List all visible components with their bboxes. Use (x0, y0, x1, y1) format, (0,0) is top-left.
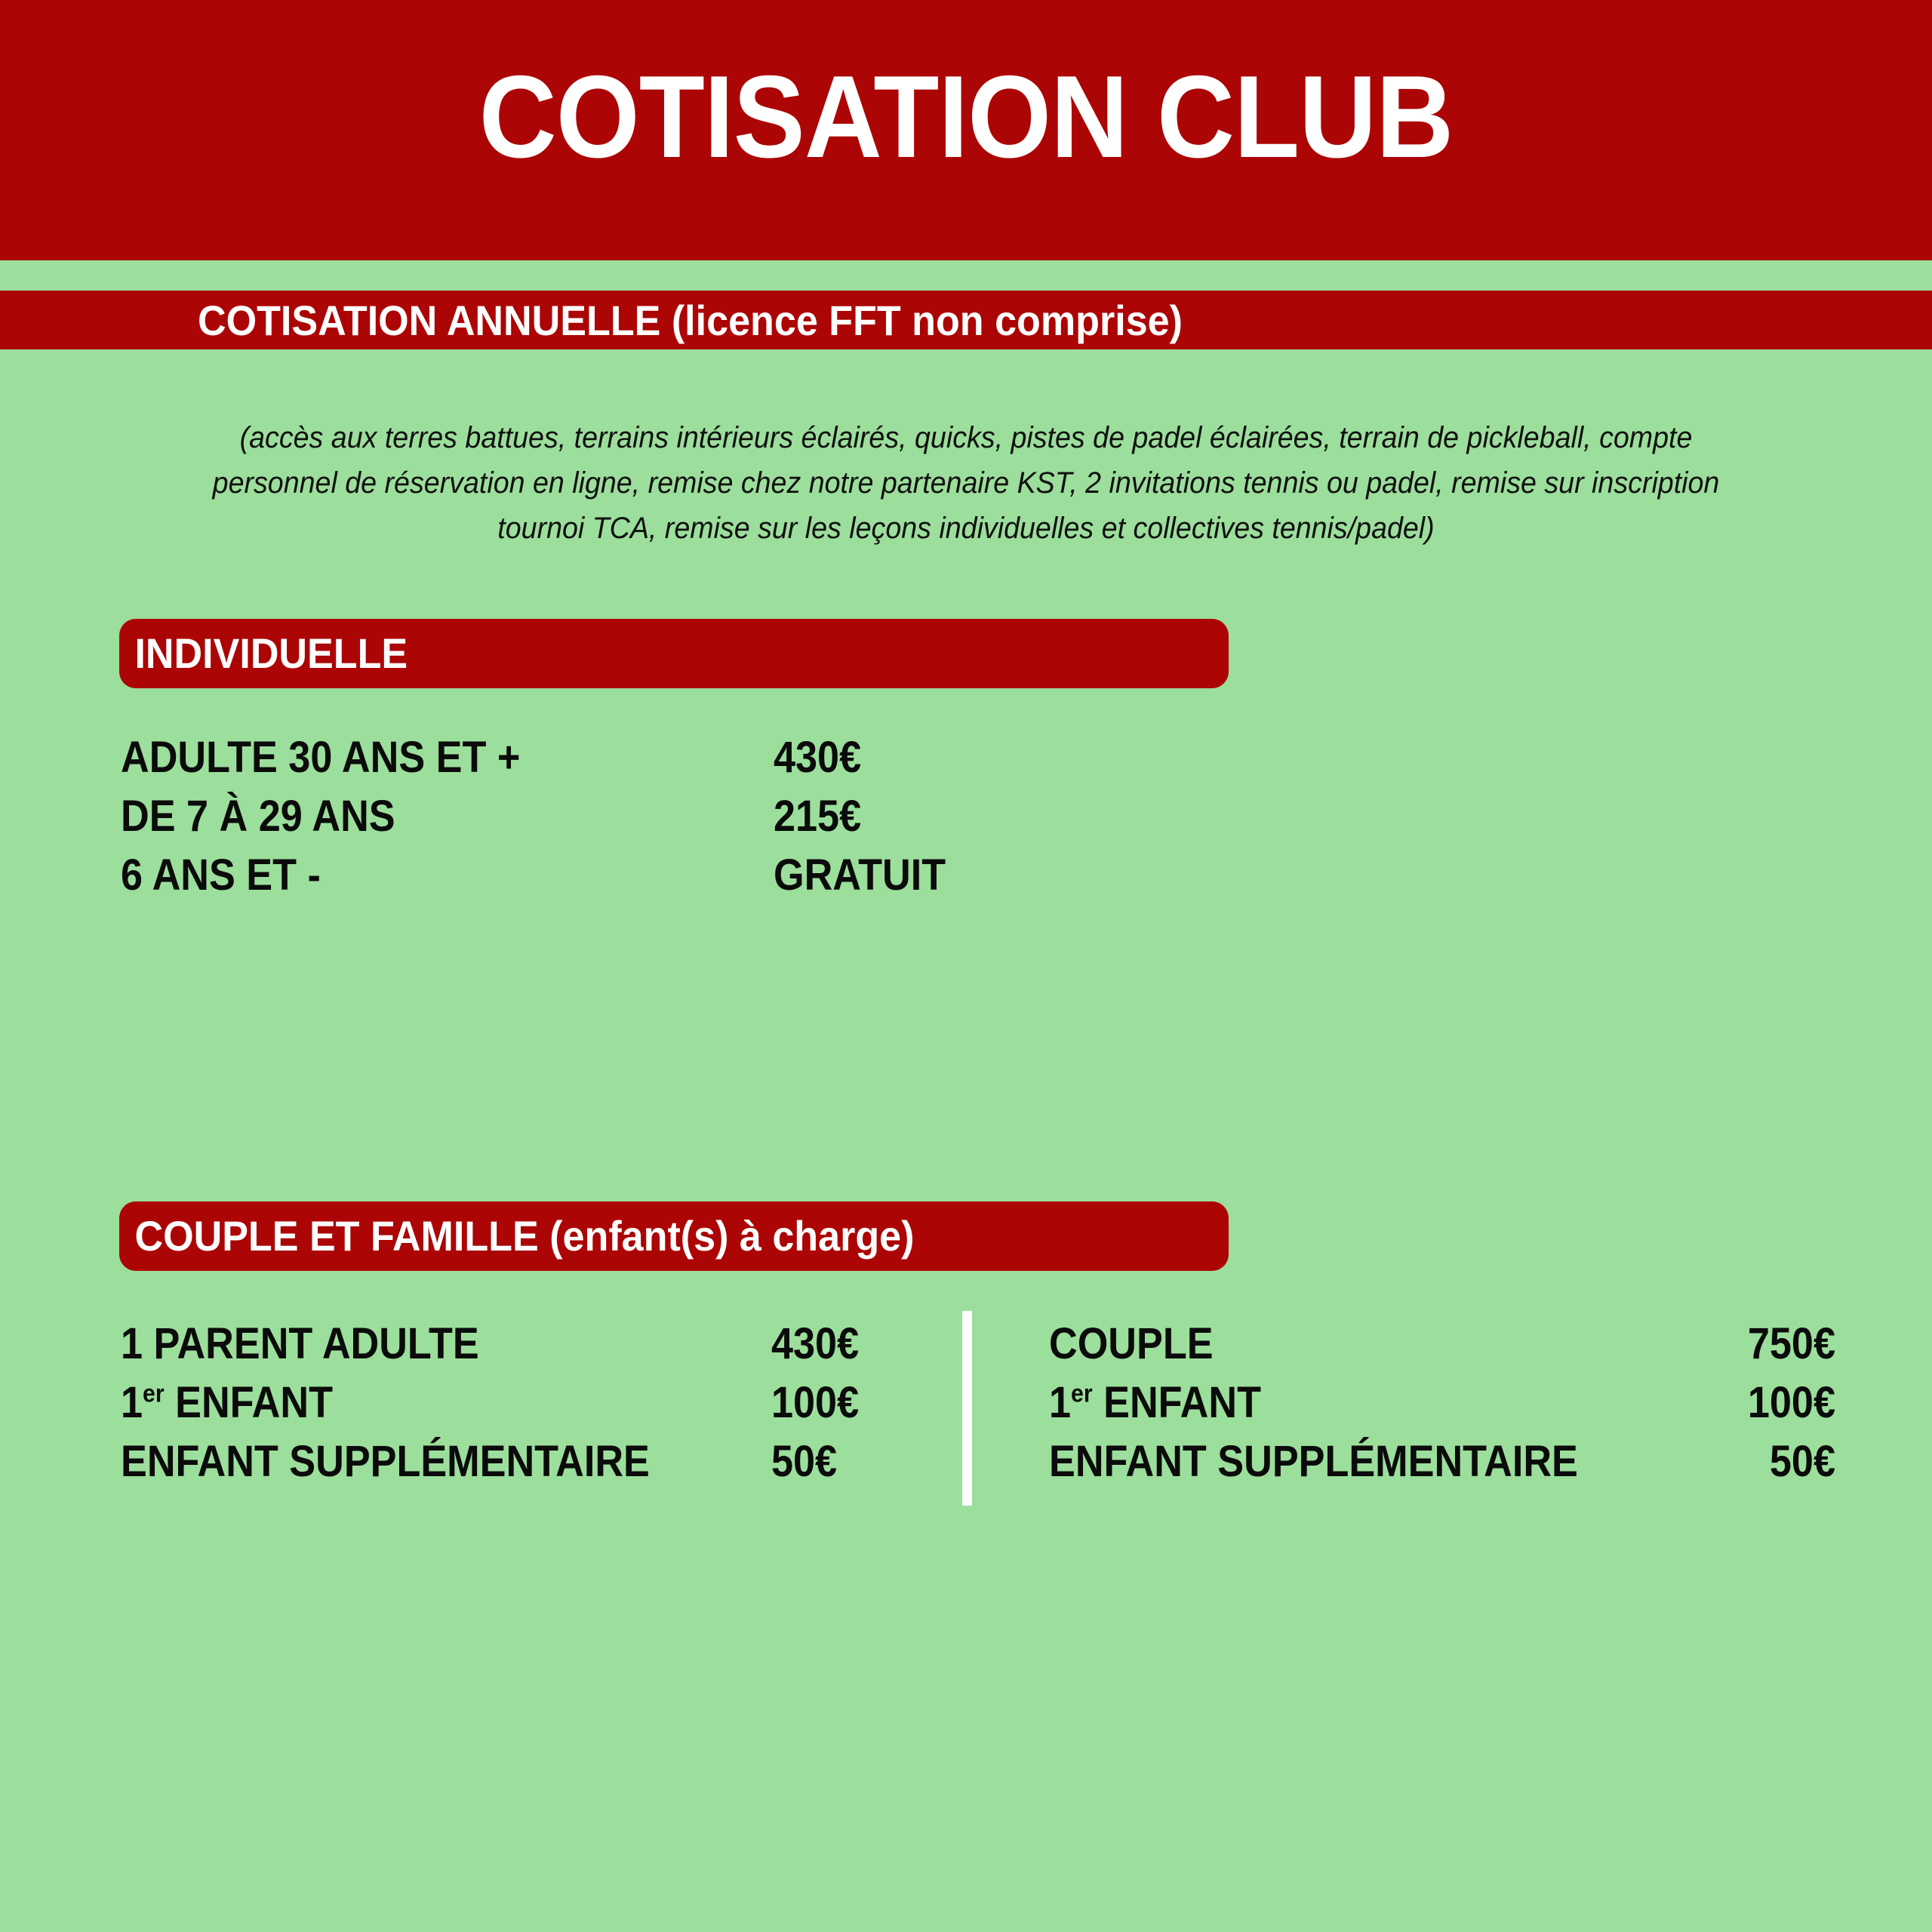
annual-fee-banner-label: COTISATION ANNUELLE (licence FFT non com… (198, 297, 1183, 344)
price-list-famille-right: COUPLE 750€ 1er ENFANT 100€ ENFANT SUPPL… (1049, 1315, 1894, 1491)
price-label: ADULTE 30 ANS ET + (121, 728, 709, 787)
price-row: ENFANT SUPPLÉMENTAIRE 50€ (1049, 1432, 1894, 1491)
price-label: COUPLE (1049, 1315, 1647, 1374)
price-row: 6 ANS ET - GRATUIT (121, 846, 1177, 905)
price-row: COUPLE 750€ (1049, 1315, 1894, 1374)
price-label: 1 PARENT ADULTE (121, 1315, 706, 1374)
price-value: 430€ (771, 1315, 859, 1374)
column-divider (962, 1311, 972, 1506)
membership-description: (accès aux terres battues, terrains inté… (186, 415, 1746, 551)
price-label: ENFANT SUPPLÉMENTAIRE (1049, 1432, 1647, 1491)
price-value: GRATUIT (774, 846, 946, 905)
price-label: ENFANT SUPPLÉMENTAIRE (121, 1432, 706, 1491)
price-value: 750€ (1713, 1315, 1835, 1374)
section-badge-couple-famille-label: COUPLE ET FAMILLE (enfant(s) à charge) (119, 1214, 914, 1259)
price-row: ADULTE 30 ANS ET + 430€ (121, 728, 1177, 787)
price-label: 1er ENFANT (121, 1374, 706, 1432)
price-value: 50€ (1713, 1432, 1835, 1491)
price-value: 100€ (1713, 1374, 1835, 1432)
ordinal-suffix: er (1071, 1380, 1093, 1408)
price-row: 1er ENFANT 100€ (121, 1374, 921, 1432)
price-row: ENFANT SUPPLÉMENTAIRE 50€ (121, 1432, 921, 1491)
price-label: 1er ENFANT (1049, 1374, 1647, 1432)
price-row: 1er ENFANT 100€ (1049, 1374, 1894, 1432)
price-list-famille-left: 1 PARENT ADULTE 430€ 1er ENFANT 100€ ENF… (121, 1315, 921, 1491)
page-title: COTISATION CLUB (77, 53, 1854, 181)
price-label: 6 ANS ET - (121, 846, 709, 905)
price-row: 1 PARENT ADULTE 430€ (121, 1315, 921, 1374)
price-value: 215€ (774, 787, 861, 846)
section-badge-couple-famille: COUPLE ET FAMILLE (enfant(s) à charge) (119, 1201, 1229, 1271)
price-value: 430€ (774, 728, 861, 787)
price-value: 50€ (771, 1432, 837, 1491)
price-row: DE 7 À 29 ANS 215€ (121, 787, 1177, 846)
price-value: 100€ (771, 1374, 859, 1432)
section-badge-individuelle-label: INDIVIDUELLE (119, 631, 408, 676)
section-badge-individuelle: INDIVIDUELLE (119, 619, 1229, 688)
price-label: DE 7 À 29 ANS (121, 787, 709, 846)
price-list-individuelle: ADULTE 30 ANS ET + 430€ DE 7 À 29 ANS 21… (121, 728, 1177, 905)
ordinal-suffix: er (143, 1380, 165, 1408)
